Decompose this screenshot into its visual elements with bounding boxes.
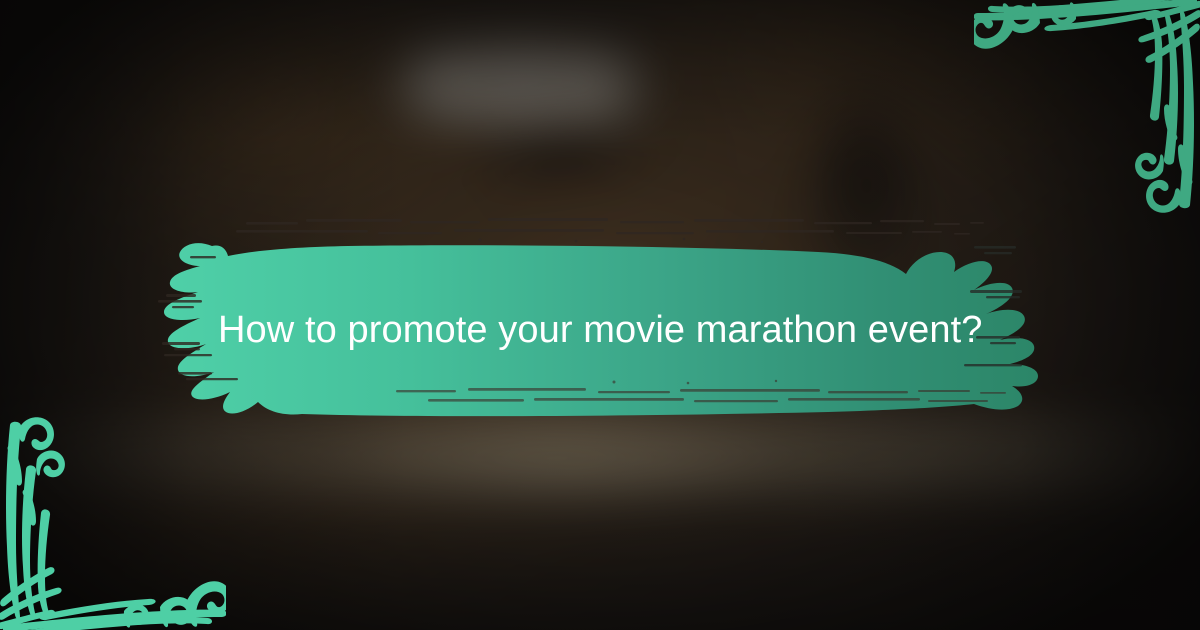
page-title: How to promote your movie marathon event…	[218, 304, 1038, 356]
share-card-canvas: How to promote your movie marathon event…	[0, 0, 1200, 630]
